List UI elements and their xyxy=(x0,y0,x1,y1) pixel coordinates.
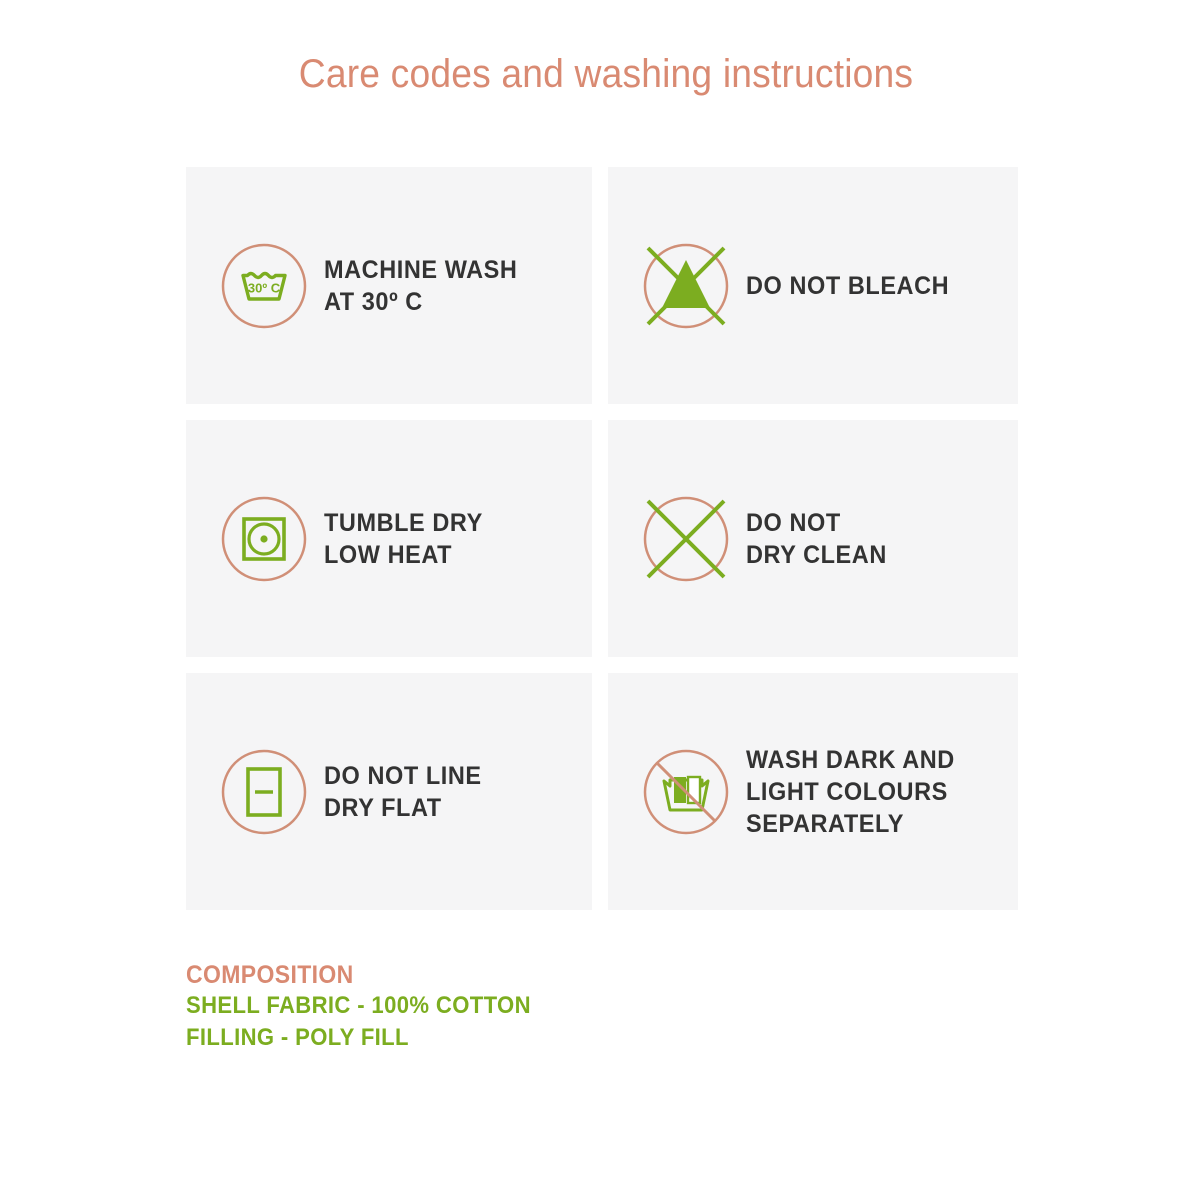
care-card-do-not-bleach: DO NOT BLEACH xyxy=(608,167,1018,404)
care-card-wash-colours-separately: WASH DARK AND LIGHT COLOURS SEPARATELY xyxy=(608,673,1018,910)
do-not-line-dry-flat-icon xyxy=(218,746,310,838)
composition-block: COMPOSITION SHELL FABRIC - 100% COTTON F… xyxy=(186,960,561,1054)
care-card-label: MACHINE WASH AT 30º C xyxy=(324,254,517,318)
care-card-do-not-line-dry: DO NOT LINE DRY FLAT xyxy=(186,673,592,910)
composition-shell-fabric: SHELL FABRIC - 100% COTTON xyxy=(186,990,531,1022)
machine-wash-30c-icon: 30º C xyxy=(218,240,310,332)
do-not-bleach-icon xyxy=(640,240,732,332)
care-card-label: DO NOT LINE DRY FLAT xyxy=(324,760,482,824)
care-card-label: DO NOT BLEACH xyxy=(746,270,949,302)
care-card-label: DO NOT DRY CLEAN xyxy=(746,507,887,571)
care-card-do-not-dry-clean: DO NOT DRY CLEAN xyxy=(608,420,1018,657)
care-card-label: TUMBLE DRY LOW HEAT xyxy=(324,507,483,571)
care-card-machine-wash: 30º C MACHINE WASH AT 30º C xyxy=(186,167,592,404)
care-card-label: WASH DARK AND LIGHT COLOURS SEPARATELY xyxy=(746,744,955,840)
care-card-tumble-dry: TUMBLE DRY LOW HEAT xyxy=(186,420,592,657)
machine-wash-temperature-text: 30º C xyxy=(248,280,281,295)
wash-colours-separately-icon xyxy=(640,746,732,838)
page-title: Care codes and washing instructions xyxy=(215,52,996,97)
composition-heading: COMPOSITION xyxy=(186,960,531,990)
care-codes-grid: 30º C MACHINE WASH AT 30º C DO NOT BLEAC… xyxy=(186,167,1018,910)
care-label-infographic: Care codes and washing instructions 30º … xyxy=(0,0,1200,1200)
composition-filling: FILLING - POLY FILL xyxy=(186,1022,531,1054)
do-not-dry-clean-icon xyxy=(640,493,732,585)
tumble-dry-low-heat-icon xyxy=(218,493,310,585)
